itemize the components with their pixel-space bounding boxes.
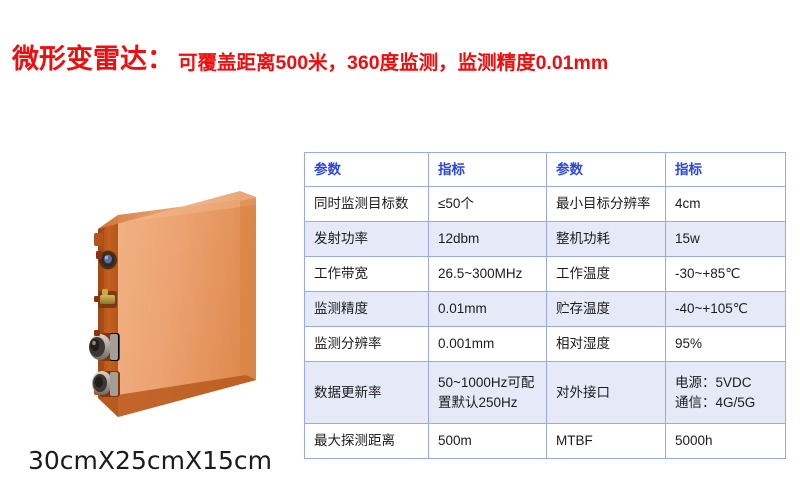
radar-device-illustration (80, 185, 300, 430)
spec-param-cell: 贮存温度 (547, 292, 666, 327)
spec-table-header: 参数 指标 参数 指标 (305, 153, 786, 187)
spec-value-cell: 0.001mm (429, 327, 547, 362)
spec-param-cell: 最小目标分辨率 (547, 187, 666, 222)
spec-value-cell: 0.01mm (429, 292, 547, 327)
spec-value-cell: 4cm (666, 187, 786, 222)
spec-value-cell: 12dbm (429, 222, 547, 257)
page-title-main: 微形变雷达： (12, 46, 174, 73)
table-row: 监测分辨率0.001mm相对湿度95% (305, 327, 786, 362)
radar-device-photo (80, 185, 300, 430)
spec-value-cell: -40~+105℃ (666, 292, 786, 327)
spec-table-body: 同时监测目标数≤50个最小目标分辨率4cm发射功率12dbm整机功耗15w工作带… (305, 187, 786, 459)
spec-param-cell: 数据更新率 (305, 362, 429, 424)
spec-value-cell: 50~1000Hz可配置默认250Hz (429, 362, 547, 424)
spec-header-param-1: 参数 (305, 153, 429, 187)
spec-param-cell: 监测精度 (305, 292, 429, 327)
spec-value-cell: 26.5~300MHz (429, 257, 547, 292)
table-row: 最大探测距离500mMTBF5000h (305, 424, 786, 459)
spec-value-cell: 15w (666, 222, 786, 257)
spec-value-cell: 5000h (666, 424, 786, 459)
specifications-table: 参数 指标 参数 指标 同时监测目标数≤50个最小目标分辨率4cm发射功率12d… (304, 152, 786, 459)
device-dimensions-caption: 30cmX25cmX15cm (28, 446, 272, 475)
spec-cell-line: 置默认250Hz (438, 394, 537, 412)
spec-value-cell: 500m (429, 424, 547, 459)
spec-table-container: 参数 指标 参数 指标 同时监测目标数≤50个最小目标分辨率4cm发射功率12d… (304, 152, 785, 459)
spec-header-param-2: 参数 (547, 153, 666, 187)
power-connector-brass (94, 289, 117, 308)
spec-param-cell: 工作带宽 (305, 257, 429, 292)
spec-value-cell: 电源：5VDC通信：4G/5G (666, 362, 786, 424)
spec-param-cell: MTBF (547, 424, 666, 459)
spec-cell-line: 通信：4G/5G (675, 394, 776, 412)
spec-param-cell: 同时监测目标数 (305, 187, 429, 222)
spec-header-row: 参数 指标 参数 指标 (305, 153, 786, 187)
spec-header-value-1: 指标 (429, 153, 547, 187)
page-title-subtitle: 可覆盖距离500米，360度监测，监测精度0.01mm (178, 54, 608, 74)
table-row: 监测精度0.01mm贮存温度-40~+105℃ (305, 292, 786, 327)
spec-param-cell: 监测分辨率 (305, 327, 429, 362)
table-row: 数据更新率50~1000Hz可配置默认250Hz对外接口电源：5VDC通信：4G… (305, 362, 786, 424)
spec-param-cell: 对外接口 (547, 362, 666, 424)
spec-header-value-2: 指标 (666, 153, 786, 187)
page-title: 微形变雷达： 可覆盖距离500米，360度监测，监测精度0.01mm (12, 46, 608, 73)
table-row: 发射功率12dbm整机功耗15w (305, 222, 786, 257)
spec-param-cell: 最大探测距离 (305, 424, 429, 459)
spec-value-cell: 95% (666, 327, 786, 362)
spec-param-cell: 工作温度 (547, 257, 666, 292)
spec-param-cell: 整机功耗 (547, 222, 666, 257)
table-row: 工作带宽26.5~300MHz工作温度-30~+85℃ (305, 257, 786, 292)
spec-param-cell: 发射功率 (305, 222, 429, 257)
table-row: 同时监测目标数≤50个最小目标分辨率4cm (305, 187, 786, 222)
spec-value-cell: ≤50个 (429, 187, 547, 222)
spec-cell-line: 50~1000Hz可配 (438, 374, 537, 392)
spec-value-cell: -30~+85℃ (666, 257, 786, 292)
spec-param-cell: 相对湿度 (547, 327, 666, 362)
spec-cell-line: 电源：5VDC (675, 374, 776, 392)
io-connector-large-upper (89, 330, 120, 361)
